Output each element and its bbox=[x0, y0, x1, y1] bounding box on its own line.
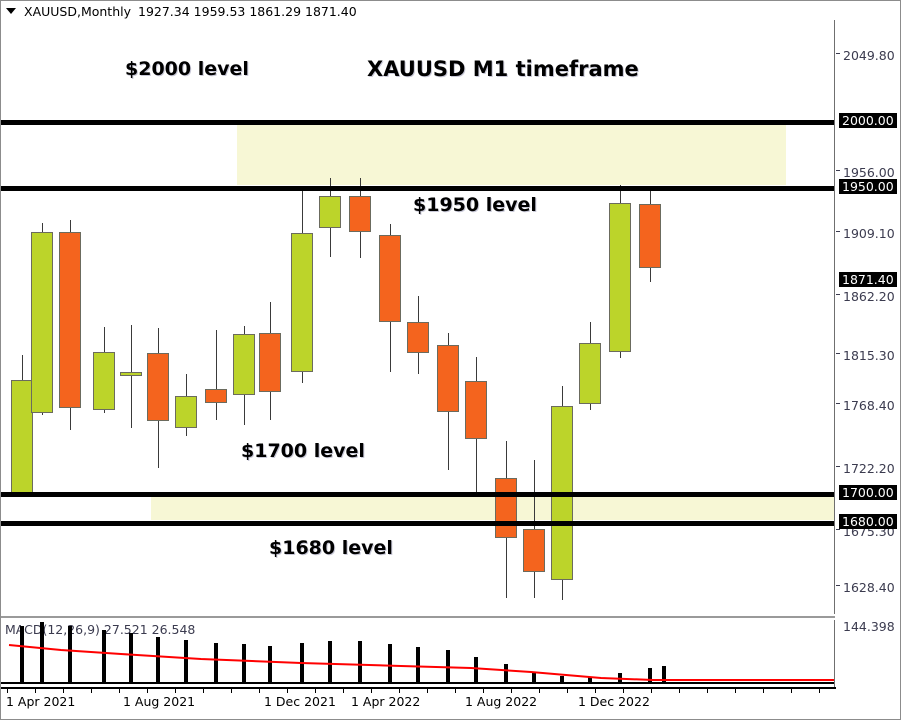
time-tick bbox=[595, 687, 596, 693]
time-tick bbox=[399, 687, 400, 693]
level-line-1950-00 bbox=[1, 186, 835, 191]
2000-1950-zone bbox=[237, 122, 786, 185]
time-tick bbox=[791, 687, 792, 693]
candle-body[interactable] bbox=[319, 196, 341, 228]
tick-dash bbox=[836, 53, 840, 54]
annotation-label: $1680 level bbox=[269, 537, 393, 559]
time-tick bbox=[371, 687, 372, 693]
time-tick bbox=[511, 687, 512, 693]
symbol-timeframe-label: XAUUSD,Monthly bbox=[24, 4, 131, 19]
price-scale[interactable]: 2049.801956.001909.101862.201815.301768.… bbox=[836, 20, 901, 687]
candle-body[interactable] bbox=[59, 232, 81, 408]
candle-body[interactable] bbox=[205, 389, 227, 403]
time-tick bbox=[63, 687, 64, 693]
time-tick bbox=[427, 687, 428, 693]
candle-body[interactable] bbox=[31, 232, 53, 413]
price-tag-1680-00: 1680.00 bbox=[839, 514, 897, 529]
1700-1680-zone bbox=[151, 494, 835, 520]
price-plot-area[interactable]: $2000 levelXAUUSD M1 timeframe$1950 leve… bbox=[1, 20, 835, 614]
time-axis-label: 1 Apr 2022 bbox=[351, 694, 420, 709]
price-tick-label: 2049.80 bbox=[843, 48, 895, 63]
tick-dash bbox=[836, 170, 840, 171]
macd-signal-line bbox=[1, 620, 835, 687]
candle-body[interactable] bbox=[407, 322, 429, 353]
candle-body[interactable] bbox=[495, 478, 517, 538]
price-tick-label: 1909.10 bbox=[843, 226, 895, 241]
time-tick bbox=[287, 687, 288, 693]
time-tick bbox=[707, 687, 708, 693]
time-tick bbox=[231, 687, 232, 693]
time-tick bbox=[539, 687, 540, 693]
price-tag-2000-00: 2000.00 bbox=[839, 113, 897, 128]
time-tick bbox=[175, 687, 176, 693]
tick-dash bbox=[836, 294, 840, 295]
candle-body[interactable] bbox=[379, 235, 401, 322]
ohlc-values-label: 1927.34 1959.53 1861.29 1871.40 bbox=[138, 4, 357, 19]
price-tick-label: 1956.00 bbox=[843, 165, 895, 180]
time-tick bbox=[483, 687, 484, 693]
candle-body[interactable] bbox=[579, 343, 601, 404]
candle-body[interactable] bbox=[465, 381, 487, 439]
time-tick bbox=[651, 687, 652, 693]
tick-dash bbox=[836, 529, 840, 530]
candle-body[interactable] bbox=[147, 353, 169, 421]
candle-body[interactable] bbox=[609, 203, 631, 352]
annotation-label: XAUUSD M1 timeframe bbox=[367, 57, 639, 81]
time-tick bbox=[763, 687, 764, 693]
candle-body[interactable] bbox=[349, 196, 371, 232]
price-tag-1700-00: 1700.00 bbox=[839, 485, 897, 500]
tick-dash bbox=[836, 231, 840, 232]
time-tick bbox=[147, 687, 148, 693]
time-tick bbox=[119, 687, 120, 693]
level-line-2000-00 bbox=[1, 120, 835, 125]
candle-body[interactable] bbox=[93, 352, 115, 410]
tick-dash bbox=[836, 585, 840, 586]
time-axis-label: 1 Aug 2021 bbox=[123, 694, 195, 709]
price-tick-label: 1768.40 bbox=[843, 398, 895, 413]
level-line-1680-00 bbox=[1, 521, 835, 526]
tick-dash bbox=[836, 466, 840, 467]
time-tick bbox=[735, 687, 736, 693]
price-tag-1871-40: 1871.40 bbox=[839, 272, 897, 287]
candle-body[interactable] bbox=[291, 233, 313, 372]
candle-body[interactable] bbox=[639, 204, 661, 268]
candle-body[interactable] bbox=[175, 396, 197, 428]
time-tick bbox=[343, 687, 344, 693]
candle-body[interactable] bbox=[259, 333, 281, 392]
annotation-label: $2000 level bbox=[125, 58, 249, 80]
macd-panel[interactable]: MACD(12,26,9) 27.521 26.548 bbox=[1, 620, 835, 687]
annotation-label: $1700 level bbox=[241, 440, 365, 462]
chart-header: XAUUSD,Monthly 1927.34 1959.53 1861.29 1… bbox=[6, 3, 357, 19]
level-line-1700-00 bbox=[1, 492, 835, 497]
time-tick bbox=[315, 687, 316, 693]
time-axis-label: 1 Apr 2021 bbox=[6, 694, 75, 709]
macd-scale-label: 144.398 bbox=[843, 619, 895, 634]
time-tick bbox=[567, 687, 568, 693]
candle-wick bbox=[216, 330, 217, 420]
time-axis-label: 1 Dec 2022 bbox=[578, 694, 650, 709]
candle-wick bbox=[131, 325, 132, 428]
candle-body[interactable] bbox=[120, 372, 142, 376]
time-tick bbox=[623, 687, 624, 693]
tick-dash bbox=[836, 403, 840, 404]
time-axis-line bbox=[1, 687, 836, 689]
time-tick bbox=[7, 687, 8, 693]
trading-chart-screenshot: XAUUSD,Monthly 1927.34 1959.53 1861.29 1… bbox=[0, 0, 902, 721]
price-tick-label: 1628.40 bbox=[843, 580, 895, 595]
time-tick bbox=[203, 687, 204, 693]
annotation-label: $1950 level bbox=[413, 194, 537, 216]
candle-body[interactable] bbox=[11, 380, 33, 494]
price-tag-1950-00: 1950.00 bbox=[839, 179, 897, 194]
tick-dash bbox=[836, 353, 840, 354]
caret-down-icon[interactable] bbox=[6, 8, 16, 14]
price-tick-label: 1722.20 bbox=[843, 461, 895, 476]
time-tick bbox=[455, 687, 456, 693]
panel-separator bbox=[1, 616, 835, 618]
price-tick-label: 1862.20 bbox=[843, 289, 895, 304]
candle-body[interactable] bbox=[437, 345, 459, 412]
time-tick bbox=[91, 687, 92, 693]
time-axis[interactable]: 1 Apr 20211 Aug 20211 Dec 20211 Apr 2022… bbox=[1, 687, 901, 720]
candle-body[interactable] bbox=[523, 529, 545, 572]
time-tick bbox=[679, 687, 680, 693]
time-axis-label: 1 Dec 2021 bbox=[264, 694, 336, 709]
time-axis-label: 1 Aug 2022 bbox=[465, 694, 537, 709]
price-tick-label: 1815.30 bbox=[843, 348, 895, 363]
time-tick bbox=[819, 687, 820, 693]
time-tick bbox=[35, 687, 36, 693]
time-tick bbox=[259, 687, 260, 693]
candle-body[interactable] bbox=[233, 334, 255, 395]
